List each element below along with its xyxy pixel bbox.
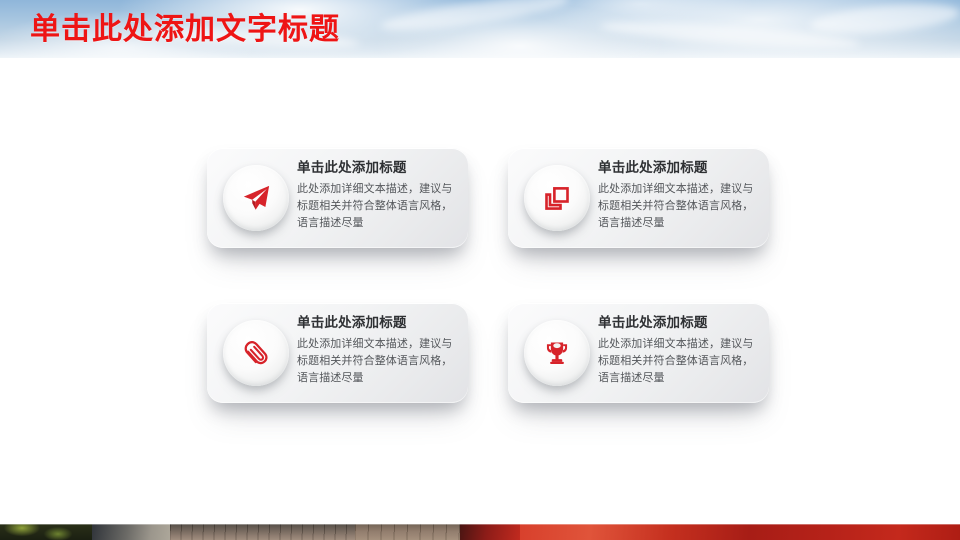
card-description[interactable]: 此处添加详细文本描述，建议与标题相关并符合整体语言风格，语言描述尽量 bbox=[297, 335, 457, 386]
cards-grid: 单击此处添加标题 此处添加详细文本描述，建议与标题相关并符合整体语言风格，语言描… bbox=[207, 148, 769, 410]
slide: 单击此处添加文字标题 单击此处添加标题 此处添加详细文本描述，建议与标题相关并符… bbox=[0, 0, 960, 540]
content-card[interactable]: 单击此处添加标题 此处添加详细文本描述，建议与标题相关并符合整体语言风格，语言描… bbox=[508, 303, 769, 403]
footer-wood-segment bbox=[170, 524, 355, 540]
card-body: 单击此处添加标题 此处添加详细文本描述，建议与标题相关并符合整体语言风格，语言描… bbox=[297, 159, 458, 231]
card-body: 单击此处添加标题 此处添加详细文本描述，建议与标题相关并符合整体语言风格，语言描… bbox=[297, 314, 458, 386]
card-title[interactable]: 单击此处添加标题 bbox=[297, 314, 458, 333]
card-title[interactable]: 单击此处添加标题 bbox=[598, 314, 759, 333]
footer-wood-segment bbox=[355, 524, 460, 540]
paperclip-icon[interactable] bbox=[223, 320, 289, 386]
content-card[interactable]: 单击此处添加标题 此处添加详细文本描述，建议与标题相关并符合整体语言风格，语言描… bbox=[207, 303, 468, 403]
footer-photo-strip bbox=[0, 524, 960, 540]
footer-stone-segment bbox=[92, 524, 170, 540]
paper-plane-icon[interactable] bbox=[223, 165, 289, 231]
card-description[interactable]: 此处添加详细文本描述，建议与标题相关并符合整体语言风格，语言描述尽量 bbox=[598, 335, 758, 386]
copy-layers-icon[interactable] bbox=[524, 165, 590, 231]
content-card[interactable]: 单击此处添加标题 此处添加详细文本描述，建议与标题相关并符合整体语言风格，语言描… bbox=[508, 148, 769, 248]
footer-top-divider bbox=[0, 524, 960, 525]
card-description[interactable]: 此处添加详细文本描述，建议与标题相关并符合整体语言风格，语言描述尽量 bbox=[598, 180, 758, 231]
slide-title[interactable]: 单击此处添加文字标题 bbox=[30, 12, 340, 48]
cloud-wisp bbox=[379, 0, 570, 37]
footer-foliage-segment bbox=[0, 524, 92, 540]
card-title[interactable]: 单击此处添加标题 bbox=[297, 159, 458, 178]
footer-red-fabric-segment bbox=[520, 524, 960, 540]
footer-red-fold-segment bbox=[460, 524, 520, 540]
content-card[interactable]: 单击此处添加标题 此处添加详细文本描述，建议与标题相关并符合整体语言风格，语言描… bbox=[207, 148, 468, 248]
card-body: 单击此处添加标题 此处添加详细文本描述，建议与标题相关并符合整体语言风格，语言描… bbox=[598, 314, 759, 386]
trophy-icon[interactable] bbox=[524, 320, 590, 386]
card-description[interactable]: 此处添加详细文本描述，建议与标题相关并符合整体语言风格，语言描述尽量 bbox=[297, 180, 457, 231]
card-body: 单击此处添加标题 此处添加详细文本描述，建议与标题相关并符合整体语言风格，语言描… bbox=[598, 159, 759, 231]
card-title[interactable]: 单击此处添加标题 bbox=[598, 159, 759, 178]
cloud-wisp bbox=[809, 0, 960, 38]
